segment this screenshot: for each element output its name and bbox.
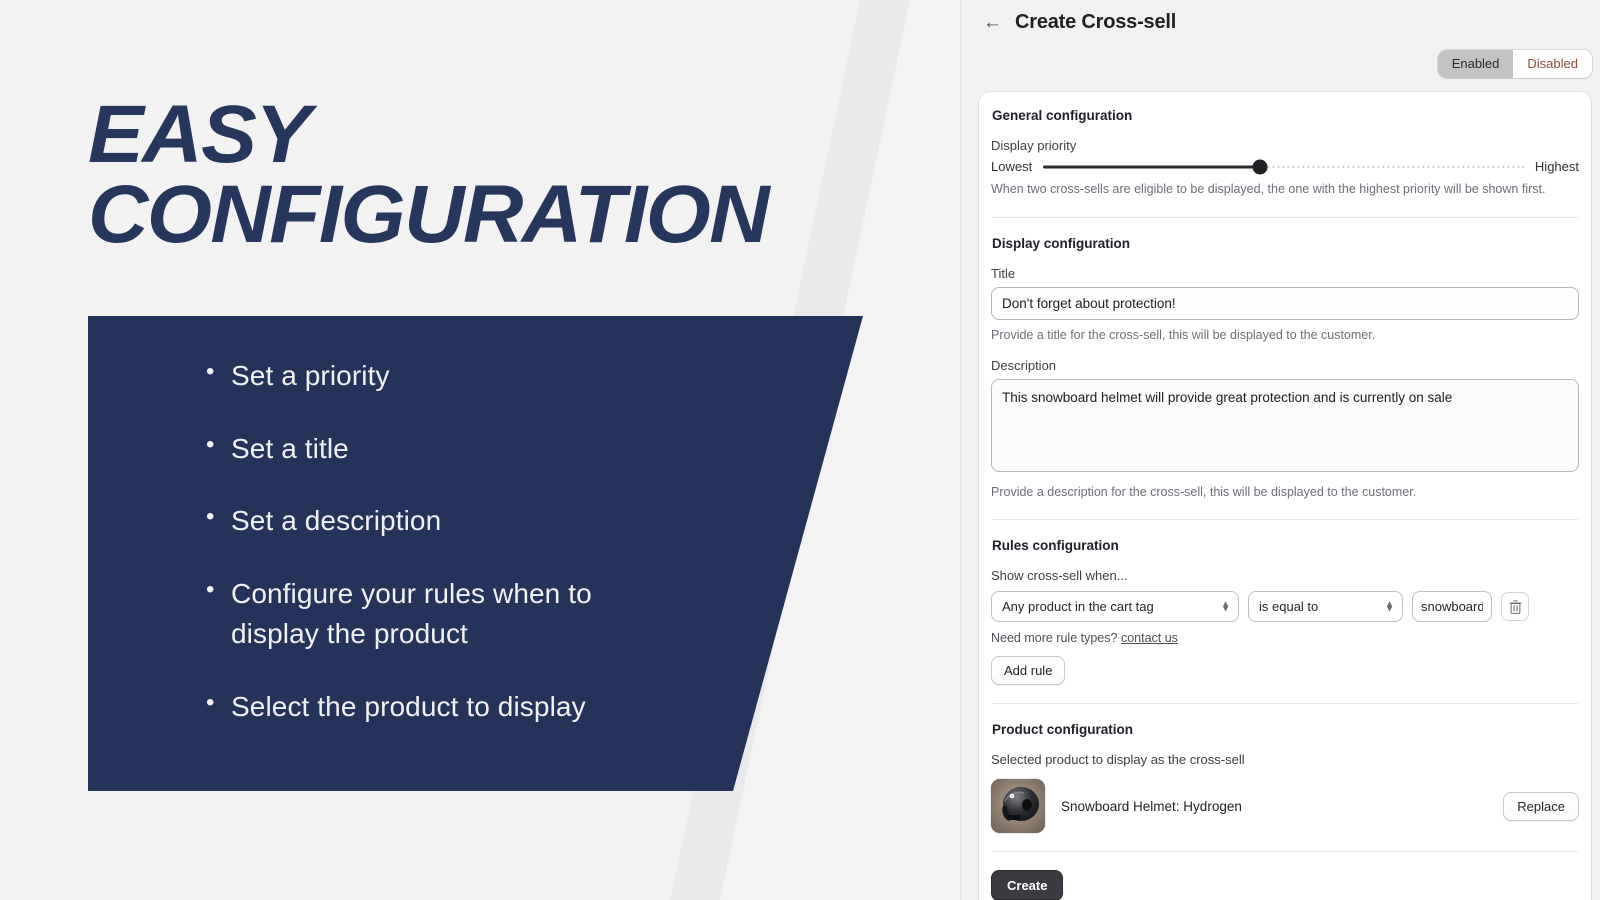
rules-note-text: Need more rule types? xyxy=(991,631,1117,645)
rule-row: Any product in the cart tag ▲▼ is equal … xyxy=(991,591,1579,622)
contact-us-link[interactable]: contact us xyxy=(1121,631,1178,645)
priority-help-text: When two cross-sells are eligible to be … xyxy=(991,181,1579,199)
list-item: Configure your rules when to display the… xyxy=(206,574,636,655)
slider-handle[interactable] xyxy=(1252,159,1267,174)
promo-panel: EASY CONFIGURATION Set a priority Set a … xyxy=(0,0,975,900)
selected-product-name: Snowboard Helmet: Hydrogen xyxy=(1061,799,1487,814)
promo-title-line-2: CONFIGURATION xyxy=(88,175,924,255)
chevron-updown-icon: ▲▼ xyxy=(1385,601,1394,612)
rule-operator-value: is equal to xyxy=(1259,599,1318,614)
delete-rule-button[interactable] xyxy=(1501,592,1529,621)
divider xyxy=(992,217,1578,218)
trash-icon xyxy=(1509,600,1522,614)
priority-slider-row: Lowest Highest xyxy=(991,159,1579,174)
add-rule-button[interactable]: Add rule xyxy=(991,656,1065,685)
slider-lowest-label: Lowest xyxy=(991,159,1032,174)
create-button[interactable]: Create xyxy=(991,870,1063,900)
description-textarea[interactable] xyxy=(991,379,1579,472)
back-arrow-icon[interactable]: ← xyxy=(983,13,1002,32)
rules-note: Need more rule types? contact us xyxy=(991,631,1579,645)
toggle-disabled[interactable]: Disabled xyxy=(1513,50,1592,78)
screen-root: EASY CONFIGURATION Set a priority Set a … xyxy=(0,0,1600,900)
divider xyxy=(992,703,1578,704)
list-item: Set a priority xyxy=(206,356,636,397)
slider-fill xyxy=(1043,165,1259,168)
replace-product-button[interactable]: Replace xyxy=(1503,792,1579,821)
promo-title-line-1: EASY xyxy=(88,95,924,175)
rule-value-input[interactable] xyxy=(1412,591,1492,622)
cross-sell-form-panel: ← Create Cross-sell Enabled Disabled Gen… xyxy=(960,0,1600,900)
priority-slider[interactable] xyxy=(1043,160,1524,174)
selected-product-row: Snowboard Helmet: Hydrogen Replace xyxy=(991,779,1579,833)
rules-prompt: Show cross-sell when... xyxy=(991,568,1579,583)
panel-header: ← Create Cross-sell xyxy=(961,0,1600,34)
description-help-text: Provide a description for the cross-sell… xyxy=(991,484,1579,502)
snowboard-helmet-thumbnail xyxy=(991,779,1045,833)
slider-highest-label: Highest xyxy=(1535,159,1579,174)
rule-operator-select[interactable]: is equal to ▲▼ xyxy=(1248,591,1403,622)
rule-subject-select[interactable]: Any product in the cart tag ▲▼ xyxy=(991,591,1239,622)
promo-feature-card: Set a priority Set a title Set a descrip… xyxy=(88,316,948,791)
promo-feature-list: Set a priority Set a title Set a descrip… xyxy=(206,356,636,760)
divider xyxy=(992,851,1578,852)
display-section-title: Display configuration xyxy=(991,236,1579,251)
description-field-label: Description xyxy=(991,358,1579,373)
chevron-updown-icon: ▲▼ xyxy=(1221,601,1230,612)
product-section-title: Product configuration xyxy=(991,722,1579,737)
title-input[interactable] xyxy=(991,287,1579,320)
list-item: Select the product to display xyxy=(206,687,636,728)
configuration-card: General configuration Display priority L… xyxy=(979,92,1591,900)
divider xyxy=(992,519,1578,520)
list-item: Set a description xyxy=(206,501,636,542)
status-toggle-wrap: Enabled Disabled xyxy=(961,34,1600,78)
general-section-title: General configuration xyxy=(991,108,1579,123)
page-title: Create Cross-sell xyxy=(1015,11,1176,34)
product-subtitle: Selected product to display as the cross… xyxy=(991,752,1579,767)
status-toggle[interactable]: Enabled Disabled xyxy=(1438,50,1592,78)
display-priority-label: Display priority xyxy=(991,138,1579,153)
list-item: Set a title xyxy=(206,429,636,470)
title-field-label: Title xyxy=(991,266,1579,281)
rules-section-title: Rules configuration xyxy=(991,538,1579,553)
promo-title: EASY CONFIGURATION xyxy=(88,95,924,256)
toggle-enabled[interactable]: Enabled xyxy=(1438,50,1514,78)
rule-subject-value: Any product in the cart tag xyxy=(1002,599,1154,614)
title-help-text: Provide a title for the cross-sell, this… xyxy=(991,327,1579,345)
